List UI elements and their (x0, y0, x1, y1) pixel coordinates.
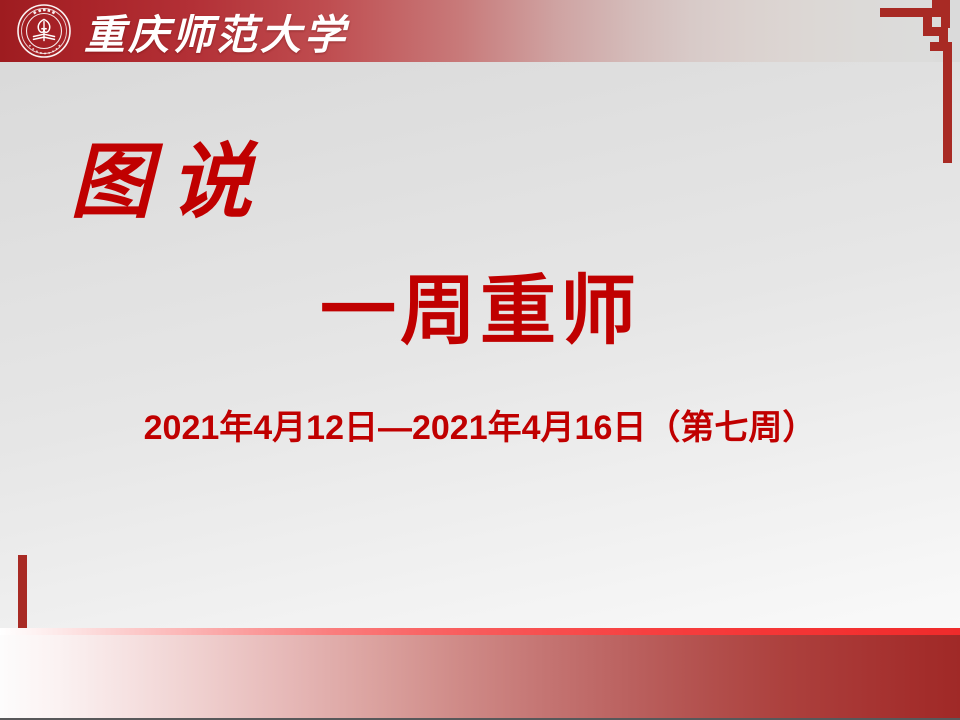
university-seal-icon (16, 3, 72, 59)
slide-main-heading: 一周重师 (0, 274, 960, 350)
bottom-accent-line (0, 628, 960, 635)
corner-meander-ornament-top-right (880, 0, 960, 175)
slide-date-range: 2021年4月12日—2021年4月16日（第七周） (0, 409, 960, 448)
slide-header-band: 重庆师范大学 (0, 0, 960, 62)
presentation-slide: 重庆师范大学 图说 一周重师 2021年4月12日—2021年4月1 (0, 0, 960, 720)
slide-brush-title: 图说 (70, 142, 270, 224)
slide-footer-band (0, 635, 960, 718)
university-name-text: 重庆师范大学 (84, 2, 348, 60)
